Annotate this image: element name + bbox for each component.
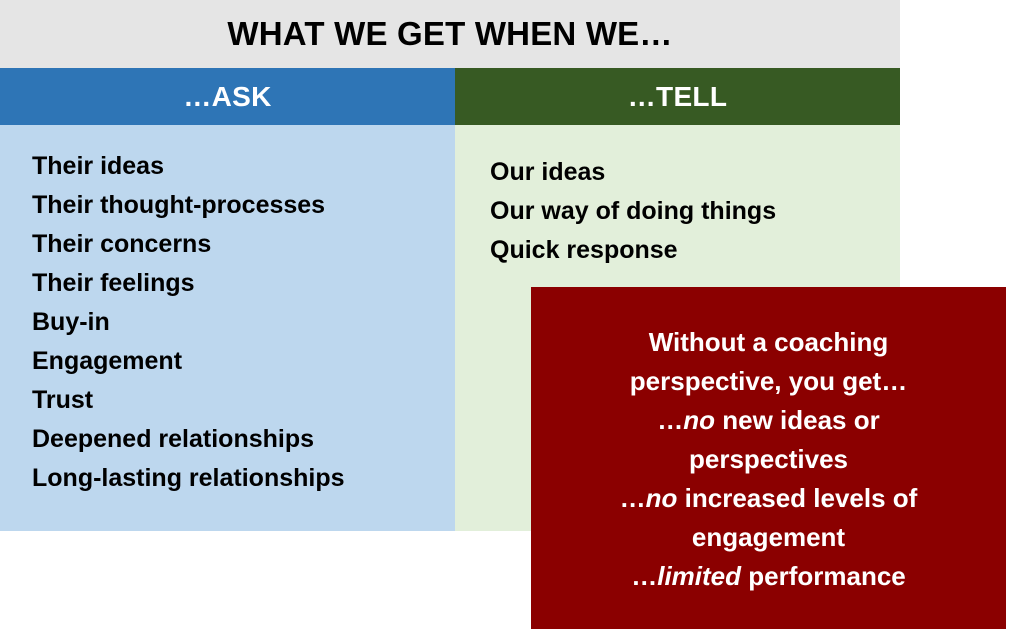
callout-line-prefix: Without a coaching bbox=[649, 327, 889, 357]
list-item: Engagement bbox=[32, 342, 455, 381]
callout-line-suffix: increased levels of bbox=[677, 483, 917, 513]
callout-line: Without a coaching bbox=[553, 323, 984, 362]
list-item: Deepened relationships bbox=[32, 420, 455, 459]
callout-line: perspective, you get… bbox=[553, 362, 984, 401]
column-body-ask: Their ideas Their thought-processes Thei… bbox=[0, 125, 455, 531]
callout-line-prefix: perspectives bbox=[689, 444, 848, 474]
callout-line-suffix: performance bbox=[741, 561, 906, 591]
callout-line-prefix: perspective, you get… bbox=[630, 366, 907, 396]
list-item: Long-lasting relationships bbox=[32, 459, 455, 498]
callout-line: perspectives bbox=[553, 440, 984, 479]
list-item: Their concerns bbox=[32, 225, 455, 264]
page-title: WHAT WE GET WHEN WE… bbox=[227, 15, 672, 53]
list-item: Trust bbox=[32, 381, 455, 420]
list-item: Their feelings bbox=[32, 264, 455, 303]
callout-line-prefix: … bbox=[657, 405, 683, 435]
callout-line: …no new ideas or bbox=[553, 401, 984, 440]
column-header-tell-label: …TELL bbox=[628, 81, 728, 113]
callout-line: …no increased levels of bbox=[553, 479, 984, 518]
title-banner: WHAT WE GET WHEN WE… bbox=[0, 0, 900, 68]
callout-line-emphasis: no bbox=[683, 405, 715, 435]
column-header-tell: …TELL bbox=[455, 68, 900, 125]
list-item: Our ideas bbox=[490, 153, 900, 192]
callout-line-prefix: … bbox=[620, 483, 646, 513]
callout-box: Without a coaching perspective, you get…… bbox=[531, 287, 1006, 629]
list-item: Their ideas bbox=[32, 147, 455, 186]
list-item: Our way of doing things bbox=[490, 192, 900, 231]
list-item: Their thought-processes bbox=[32, 186, 455, 225]
callout-line: engagement bbox=[553, 518, 984, 557]
column-header-ask: …ASK bbox=[0, 68, 455, 125]
callout-line-suffix: new ideas or bbox=[715, 405, 880, 435]
callout-line-emphasis: limited bbox=[657, 561, 741, 591]
callout-line: …limited performance bbox=[553, 557, 984, 596]
callout-line-prefix: engagement bbox=[692, 522, 845, 552]
list-item: Buy-in bbox=[32, 303, 455, 342]
callout-line-emphasis: no bbox=[646, 483, 678, 513]
column-header-ask-label: …ASK bbox=[183, 81, 271, 113]
list-item: Quick response bbox=[490, 231, 900, 270]
callout-line-prefix: … bbox=[631, 561, 657, 591]
column-header-row: …ASK …TELL bbox=[0, 68, 900, 125]
